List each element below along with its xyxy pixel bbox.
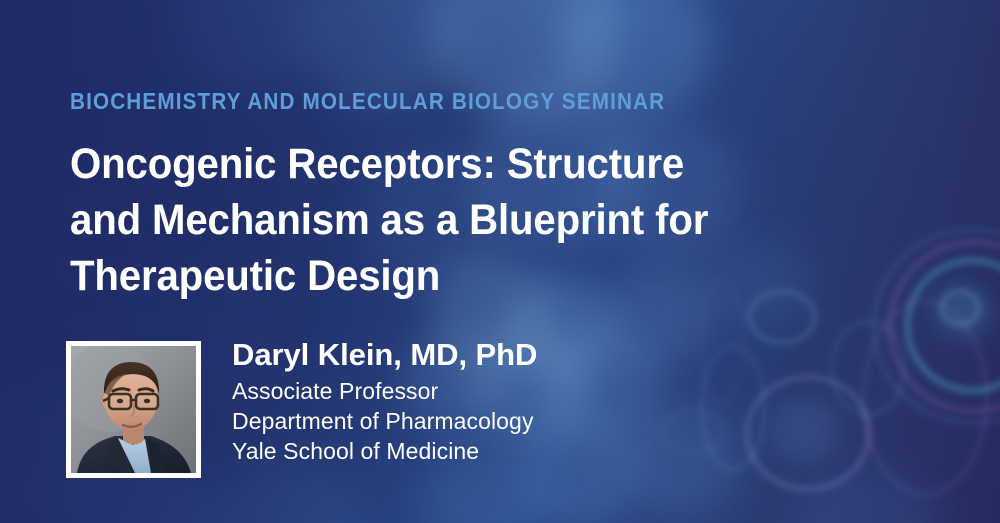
speaker-affiliation: Associate Professor Department of Pharma… bbox=[232, 376, 537, 466]
title-line-3: Therapeutic Design bbox=[70, 248, 818, 304]
title-line-1: Oncogenic Receptors: Structure bbox=[70, 136, 818, 192]
speaker-department: Department of Pharmacology bbox=[232, 406, 537, 436]
speaker-name: Daryl Klein, MD, PhD bbox=[232, 336, 537, 374]
avatar bbox=[71, 346, 196, 473]
poster-content: BIOCHEMISTRY AND MOLECULAR BIOLOGY SEMIN… bbox=[0, 0, 1000, 523]
speaker-title: Associate Professor bbox=[232, 376, 537, 406]
page-title: Oncogenic Receptors: Structure and Mecha… bbox=[70, 136, 870, 304]
speaker-institution: Yale School of Medicine bbox=[232, 436, 537, 466]
seminar-series-label: BIOCHEMISTRY AND MOLECULAR BIOLOGY SEMIN… bbox=[70, 88, 665, 115]
seminar-poster: BIOCHEMISTRY AND MOLECULAR BIOLOGY SEMIN… bbox=[0, 0, 1000, 523]
title-line-2: and Mechanism as a Blueprint for bbox=[70, 192, 818, 248]
speaker-block: Daryl Klein, MD, PhD Associate Professor… bbox=[232, 336, 537, 466]
headshot-illustration bbox=[71, 346, 196, 473]
speaker-photo-frame bbox=[66, 341, 201, 478]
